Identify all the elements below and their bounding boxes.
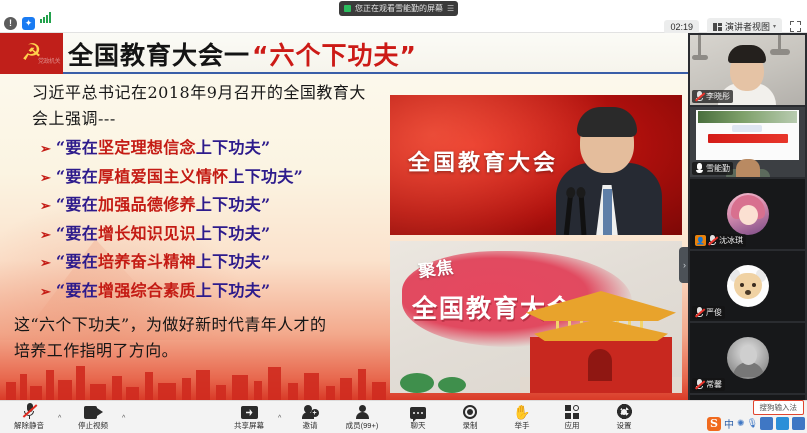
avatar bbox=[727, 193, 769, 235]
slide-closing-line-2: 培养工作指明了方向。 bbox=[14, 338, 384, 364]
keyboard-icon[interactable] bbox=[760, 417, 773, 430]
zoom-meeting-window: ! ✦ 您正在观看雪能勤的屏幕 ☰ 02:19 演讲者视图 ▾ bbox=[0, 0, 807, 433]
bullet-text: “要在坚定理想信念上下功夫” bbox=[56, 135, 271, 162]
participant-tile[interactable]: 严俊 bbox=[690, 251, 805, 321]
tree-illustration bbox=[438, 377, 466, 393]
bullet-text: “要在增强综合素质上下功夫” bbox=[56, 278, 271, 305]
mic-muted-icon bbox=[695, 379, 704, 390]
avatar bbox=[727, 337, 769, 379]
meeting-timer: 02:19 bbox=[664, 20, 699, 34]
bullet-arrow-icon: ➢ bbox=[40, 251, 51, 278]
invite-button[interactable]: + 邀请 bbox=[285, 403, 335, 431]
emblem-watermark: 党政机关 bbox=[38, 56, 60, 65]
participant-tile[interactable]: 李晓彤 bbox=[690, 35, 805, 105]
info-icon[interactable]: ! bbox=[4, 17, 17, 30]
mute-button-label: 解除静音 bbox=[14, 420, 44, 431]
raise-hand-button-label: 举手 bbox=[515, 420, 530, 431]
status-icon-group: ! ✦ bbox=[4, 17, 54, 30]
bullet-text: “要在加强品德修养上下功夫” bbox=[56, 192, 271, 219]
camera-icon bbox=[84, 406, 103, 419]
slide-closing-line-1: 这“六个下功夫”，为做好新时代青年人才的 bbox=[14, 312, 384, 338]
share-options-chevron-icon[interactable]: ^ bbox=[278, 415, 281, 422]
bullet-arrow-icon: ➢ bbox=[40, 280, 51, 307]
bullet-text: “要在厚植爱国主义情怀上下功夫” bbox=[56, 164, 303, 191]
fullscreen-icon[interactable] bbox=[790, 21, 801, 32]
security-shield-icon[interactable]: ✦ bbox=[22, 17, 35, 30]
screen-share-indicator-icon bbox=[344, 5, 351, 12]
settings-button[interactable]: 设置 bbox=[599, 403, 649, 431]
slide-lead-line-2: 会上强调--- bbox=[14, 106, 384, 132]
participant-name: 雪能勤 bbox=[706, 163, 730, 174]
slide-bullet-list: ➢ “要在坚定理想信念上下功夫” ➢ “要在厚植爱国主义情怀上下功夫” ➢ “要… bbox=[14, 135, 384, 306]
participant-name-chip: 👤 沈冰琪 bbox=[692, 234, 746, 247]
slide-photo-conference: 全国教育大会 bbox=[390, 95, 682, 235]
party-emblem-block: ☭ 党政机关 bbox=[0, 33, 63, 74]
apps-button[interactable]: 应用 bbox=[547, 403, 597, 431]
chinese-mode-icon[interactable]: 中 bbox=[724, 416, 734, 431]
bullet-text: “要在培养奋斗精神上下功夫” bbox=[56, 249, 271, 276]
participant-tile[interactable]: 常馨 bbox=[690, 323, 805, 393]
apps-icon bbox=[565, 405, 579, 419]
list-item: ➢ “要在厚植爱国主义情怀上下功夫” bbox=[14, 164, 384, 193]
speaker-view-icon bbox=[713, 23, 722, 31]
tiananmen-illustration bbox=[516, 285, 682, 393]
apps-button-label: 应用 bbox=[565, 420, 580, 431]
avatar bbox=[727, 265, 769, 307]
decor bbox=[770, 49, 790, 55]
shared-screen-stage[interactable]: ☭ 党政机关 全国教育大会一 “六个下功夫” 习近平总书记在2018年9月召开的… bbox=[0, 33, 688, 400]
top-bar: ! ✦ 您正在观看雪能勤的屏幕 ☰ 02:19 演讲者视图 ▾ bbox=[0, 0, 807, 33]
participant-tile[interactable]: 雪能勤 bbox=[690, 107, 805, 177]
ime-tooltip: 搜狗输入法 bbox=[753, 400, 805, 415]
participant-name: 严俊 bbox=[706, 307, 722, 318]
record-button-label: 录制 bbox=[463, 420, 478, 431]
audio-options-chevron-icon[interactable]: ^ bbox=[58, 415, 61, 422]
meeting-toolbar: 解除静音 ^ 停止视频 ^ 共享屏幕 ^ + 邀请 成员(99+) 聊天 录制 bbox=[0, 400, 807, 433]
screen-share-banner[interactable]: 您正在观看雪能勤的屏幕 ☰ bbox=[339, 1, 458, 16]
slide-title-highlight: “六个下功夫” bbox=[252, 36, 417, 72]
bullet-arrow-icon: ➢ bbox=[40, 166, 51, 193]
voice-input-icon[interactable]: 🎙 bbox=[747, 418, 757, 429]
emoji-icon[interactable]: ✺ bbox=[737, 418, 744, 429]
presentation-slide: ☭ 党政机关 全国教育大会一 “六个下功夫” 习近平总书记在2018年9月召开的… bbox=[0, 33, 688, 400]
invite-button-label: 邀请 bbox=[303, 420, 318, 431]
slide-title-main: 全国教育大会一 bbox=[68, 36, 250, 72]
invite-icon: + bbox=[302, 405, 319, 419]
shared-slide-thumbnail bbox=[696, 110, 799, 160]
participants-button[interactable]: 成员(99+) bbox=[337, 403, 387, 431]
video-person-face bbox=[736, 159, 760, 177]
participants-button-label: 成员(99+) bbox=[346, 420, 379, 431]
screen-share-banner-text: 您正在观看雪能勤的屏幕 bbox=[355, 3, 443, 14]
slide-photo-poster: 聚焦 全国教育大会 bbox=[390, 241, 682, 393]
video-person-hair bbox=[728, 45, 766, 63]
participant-name: 李晓彤 bbox=[706, 91, 730, 102]
mic-muted-icon bbox=[695, 307, 704, 318]
participant-name-chip: 常馨 bbox=[692, 378, 725, 391]
collapse-panel-handle[interactable]: › bbox=[679, 247, 688, 283]
video-options-chevron-icon[interactable]: ^ bbox=[122, 415, 125, 422]
tree-illustration bbox=[400, 373, 434, 393]
list-item: ➢ “要在加强品德修养上下功夫” bbox=[14, 192, 384, 221]
participant-tile[interactable]: 👤 沈冰琪 bbox=[690, 179, 805, 249]
list-item: ➢ “要在坚定理想信念上下功夫” bbox=[14, 135, 384, 164]
decor bbox=[692, 55, 708, 60]
settings-gear-icon bbox=[617, 404, 632, 419]
sogou-logo-icon[interactable]: S bbox=[707, 417, 721, 431]
mic-active-icon bbox=[695, 163, 704, 174]
chat-button[interactable]: 聊天 bbox=[393, 403, 443, 431]
photo-top-caption: 全国教育大会 bbox=[408, 145, 558, 177]
chat-icon bbox=[410, 407, 426, 419]
list-item: ➢ “要在增强综合素质上下功夫” bbox=[14, 278, 384, 307]
settings-button-label: 设置 bbox=[617, 420, 632, 431]
raise-hand-button[interactable]: ✋ 举手 bbox=[497, 403, 547, 431]
mic-muted-icon bbox=[695, 91, 704, 102]
record-button[interactable]: 录制 bbox=[445, 403, 495, 431]
participant-name-chip: 雪能勤 bbox=[692, 162, 733, 175]
list-item: ➢ “要在培养奋斗精神上下功夫” bbox=[14, 249, 384, 278]
speaker-illustration bbox=[550, 107, 668, 235]
participant-video-strip[interactable]: 李晓彤 雪能勤 👤 沈冰 bbox=[688, 33, 807, 400]
list-item: ➢ “要在增长知识见识上下功夫” bbox=[14, 221, 384, 250]
share-screen-icon bbox=[241, 406, 258, 419]
host-badge-icon: 👤 bbox=[695, 235, 706, 246]
skin-icon[interactable] bbox=[776, 417, 789, 430]
slide-title: 全国教育大会一 “六个下功夫” bbox=[68, 37, 680, 71]
share-screen-button-label: 共享屏幕 bbox=[234, 420, 264, 431]
record-icon bbox=[463, 405, 477, 419]
bullet-arrow-icon: ➢ bbox=[40, 137, 51, 164]
slide-title-band: ☭ 党政机关 全国教育大会一 “六个下功夫” bbox=[0, 33, 688, 74]
mic-muted-icon bbox=[23, 403, 36, 419]
bullet-arrow-icon: ➢ bbox=[40, 194, 51, 221]
slide-body: 习近平总书记在2018年9月召开的全国教育大 会上强调--- ➢ “要在坚定理想… bbox=[14, 80, 384, 364]
poster-kicker: 聚焦 bbox=[416, 253, 455, 283]
stop-video-button-label: 停止视频 bbox=[78, 420, 108, 431]
toolbox-icon[interactable] bbox=[792, 417, 805, 430]
decor bbox=[698, 35, 701, 57]
list-menu-icon[interactable]: ☰ bbox=[447, 4, 453, 13]
view-mode-label: 演讲者视图 bbox=[725, 20, 770, 33]
bullet-arrow-icon: ➢ bbox=[40, 223, 51, 250]
participant-name: 沈冰琪 bbox=[719, 235, 743, 246]
mic-muted-icon bbox=[708, 235, 717, 246]
participant-name: 常馨 bbox=[706, 379, 722, 390]
bullet-text: “要在增长知识见识上下功夫” bbox=[56, 221, 271, 248]
participant-name-chip: 李晓彤 bbox=[692, 90, 733, 103]
share-screen-button[interactable]: 共享屏幕 bbox=[224, 403, 274, 431]
participants-icon bbox=[355, 405, 369, 419]
stop-video-button[interactable]: 停止视频 bbox=[68, 403, 118, 431]
raise-hand-icon: ✋ bbox=[513, 405, 530, 419]
slide-lead-line-1: 习近平总书记在2018年9月召开的全国教育大 bbox=[14, 80, 384, 106]
mute-button[interactable]: 解除静音 bbox=[4, 403, 54, 431]
chevron-down-icon: ▾ bbox=[773, 23, 776, 30]
participant-name-chip: 严俊 bbox=[692, 306, 725, 319]
ime-toolbar[interactable]: S 中 ✺ 🎙 bbox=[707, 416, 805, 431]
